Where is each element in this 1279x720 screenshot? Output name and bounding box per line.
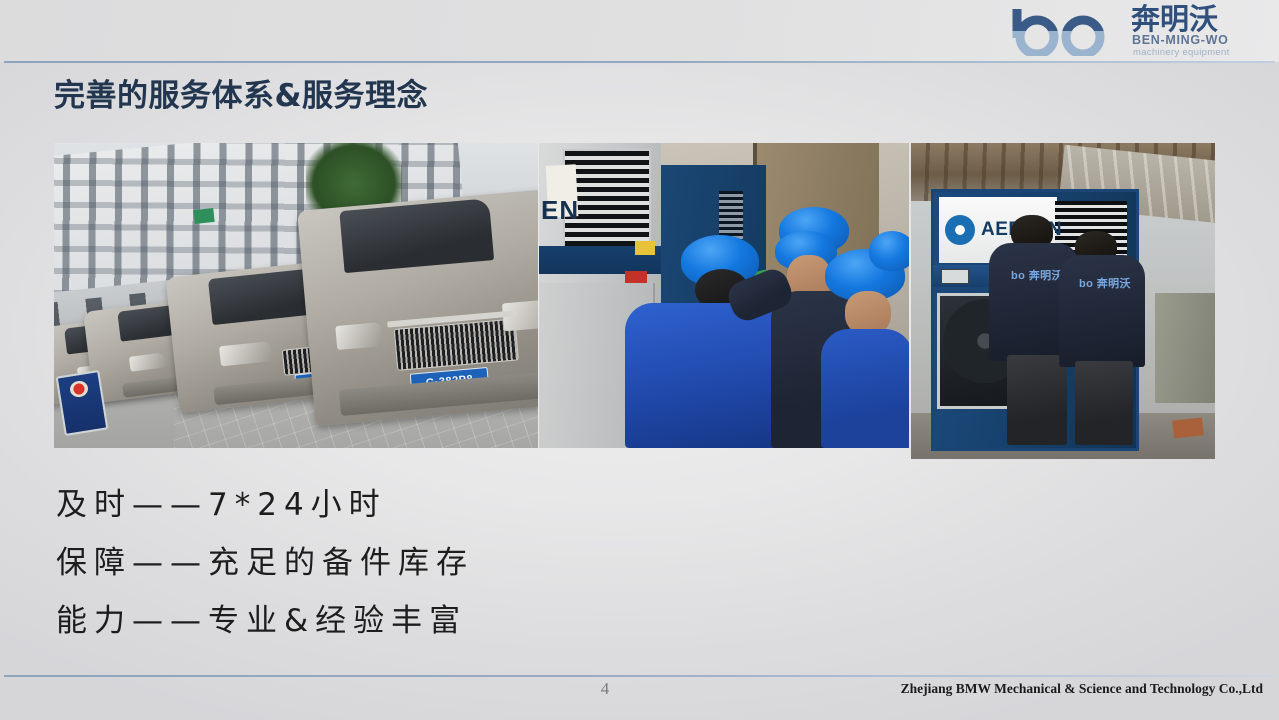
jacket-logo-right: bo 奔明沃 — [1079, 279, 1131, 290]
footer-divider — [4, 675, 1275, 677]
service-principle-assurance: 保障——充足的备件库存 — [56, 534, 756, 592]
yellow-sticker — [635, 241, 655, 255]
headlight-left — [335, 322, 383, 350]
service-principles-list: 及时——7*24小时 保障——充足的备件库存 能力——专业&经验丰富 — [56, 476, 756, 650]
logo-chinese-name: 奔明沃 — [1131, 4, 1218, 34]
grille — [394, 318, 519, 370]
windshield — [339, 198, 494, 273]
technician-right-jacket — [1059, 255, 1145, 367]
photo-fleet-of-service-vehicles: G·382P8 — [54, 143, 538, 448]
jacket-logo-left: bo 奔明沃 — [1011, 271, 1063, 282]
brick-on-ground — [1172, 417, 1204, 438]
logo-english-name: BEN-MING-WO — [1132, 34, 1229, 47]
machine-label: EN — [541, 195, 579, 226]
slide: 奔明沃 BEN-MING-WO machinery equipment 完善的服… — [0, 0, 1279, 720]
footer-company-name: Zhejiang BMW Mechanical & Science and Te… — [901, 681, 1263, 697]
service-principle-capability: 能力——专业&经验丰富 — [56, 592, 756, 650]
headlight — [129, 352, 167, 371]
shop-sign-green — [193, 208, 214, 224]
hard-hat-4 — [869, 231, 909, 271]
background-shed — [1155, 293, 1215, 403]
header-divider — [4, 61, 1275, 63]
parking-sign-stand — [56, 370, 109, 436]
vehicle-1: G·382P8 — [297, 188, 538, 426]
headlight — [219, 341, 273, 366]
page-title: 完善的服务体系&服务理念 — [54, 76, 428, 116]
technician-3 — [821, 329, 909, 448]
service-principle-timeliness: 及时——7*24小时 — [56, 476, 756, 534]
bo-monogram-icon — [1009, 6, 1127, 56]
photo-technicians-servicing-aerzen-blower: AERZEN bo 奔明沃 bo 奔明沃 — [911, 143, 1215, 459]
logo-wordmark: 奔明沃 BEN-MING-WO machinery equipment — [1131, 4, 1271, 58]
logo-tagline: machinery equipment — [1133, 47, 1230, 58]
photo-technicians-servicing-compressor: EN — [539, 143, 909, 448]
technician-1 — [625, 303, 783, 448]
technician-left-jeans — [1007, 355, 1067, 445]
company-logo: 奔明沃 BEN-MING-WO machinery equipment — [1009, 4, 1271, 58]
aerzen-logo-icon — [945, 215, 975, 245]
unit-gauge — [941, 269, 969, 284]
technician-right-jeans — [1075, 361, 1133, 445]
